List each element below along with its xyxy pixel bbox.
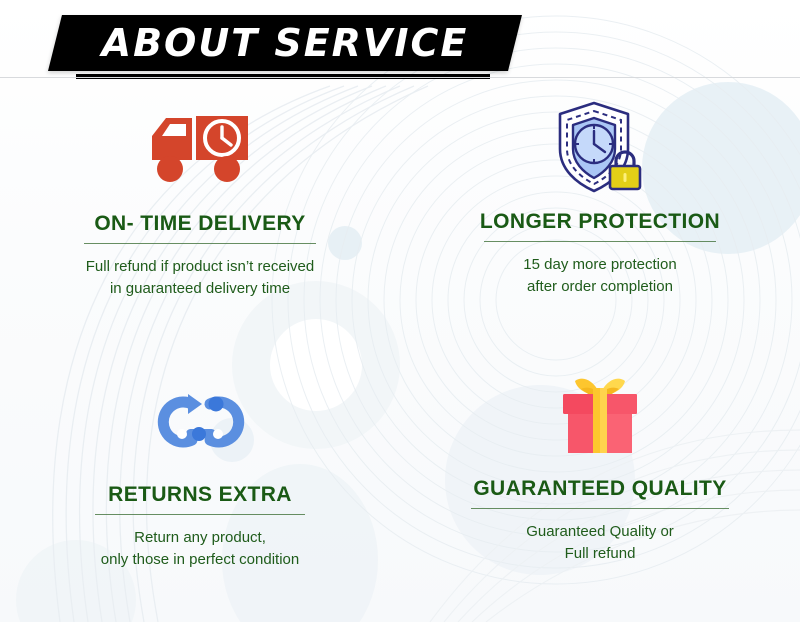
- feature-card-guaranteed-quality: GUARANTEED QUALITY Guaranteed Quality or…: [400, 357, 800, 622]
- return-arrows-icon-svg: [154, 390, 246, 452]
- feature-title: RETURNS EXTRA: [108, 483, 292, 507]
- feature-divider: [484, 241, 716, 242]
- page-title: ABOUT SERVICE: [55, 15, 515, 71]
- feature-description: Return any product, only those in perfec…: [101, 527, 299, 571]
- feature-card-longer-protection: LONGER PROTECTION 15 day more protection…: [400, 92, 800, 357]
- shield-clock-lock-icon-svg: [554, 99, 646, 197]
- header-hairline: [0, 77, 800, 78]
- return-arrows-icon: [154, 369, 246, 473]
- service-features-grid: ON- TIME DELIVERY Full refund if product…: [0, 92, 800, 622]
- feature-card-returns-extra: RETURNS EXTRA Return any product, only t…: [0, 357, 400, 622]
- about-service-page: ABOUT SERVICE: [0, 0, 800, 622]
- feature-description: Guaranteed Quality or Full refund: [526, 521, 674, 565]
- feature-divider: [84, 243, 316, 244]
- feature-title: GUARANTEED QUALITY: [473, 477, 726, 501]
- delivery-truck-clock-icon-svg: [148, 112, 252, 188]
- feature-description: Full refund if product isn’t received in…: [86, 256, 314, 300]
- feature-divider: [471, 508, 729, 509]
- feature-divider: [95, 514, 305, 515]
- shield-clock-lock-icon: [554, 96, 646, 200]
- feature-description: 15 day more protection after order compl…: [523, 254, 676, 298]
- delivery-truck-clock-icon: [148, 98, 252, 202]
- page-header: ABOUT SERVICE: [0, 0, 800, 86]
- gift-box-icon-svg: [557, 374, 643, 456]
- gift-box-icon: [557, 363, 643, 467]
- feature-card-on-time-delivery: ON- TIME DELIVERY Full refund if product…: [0, 92, 400, 357]
- feature-title: LONGER PROTECTION: [480, 210, 720, 234]
- feature-title: ON- TIME DELIVERY: [94, 212, 305, 236]
